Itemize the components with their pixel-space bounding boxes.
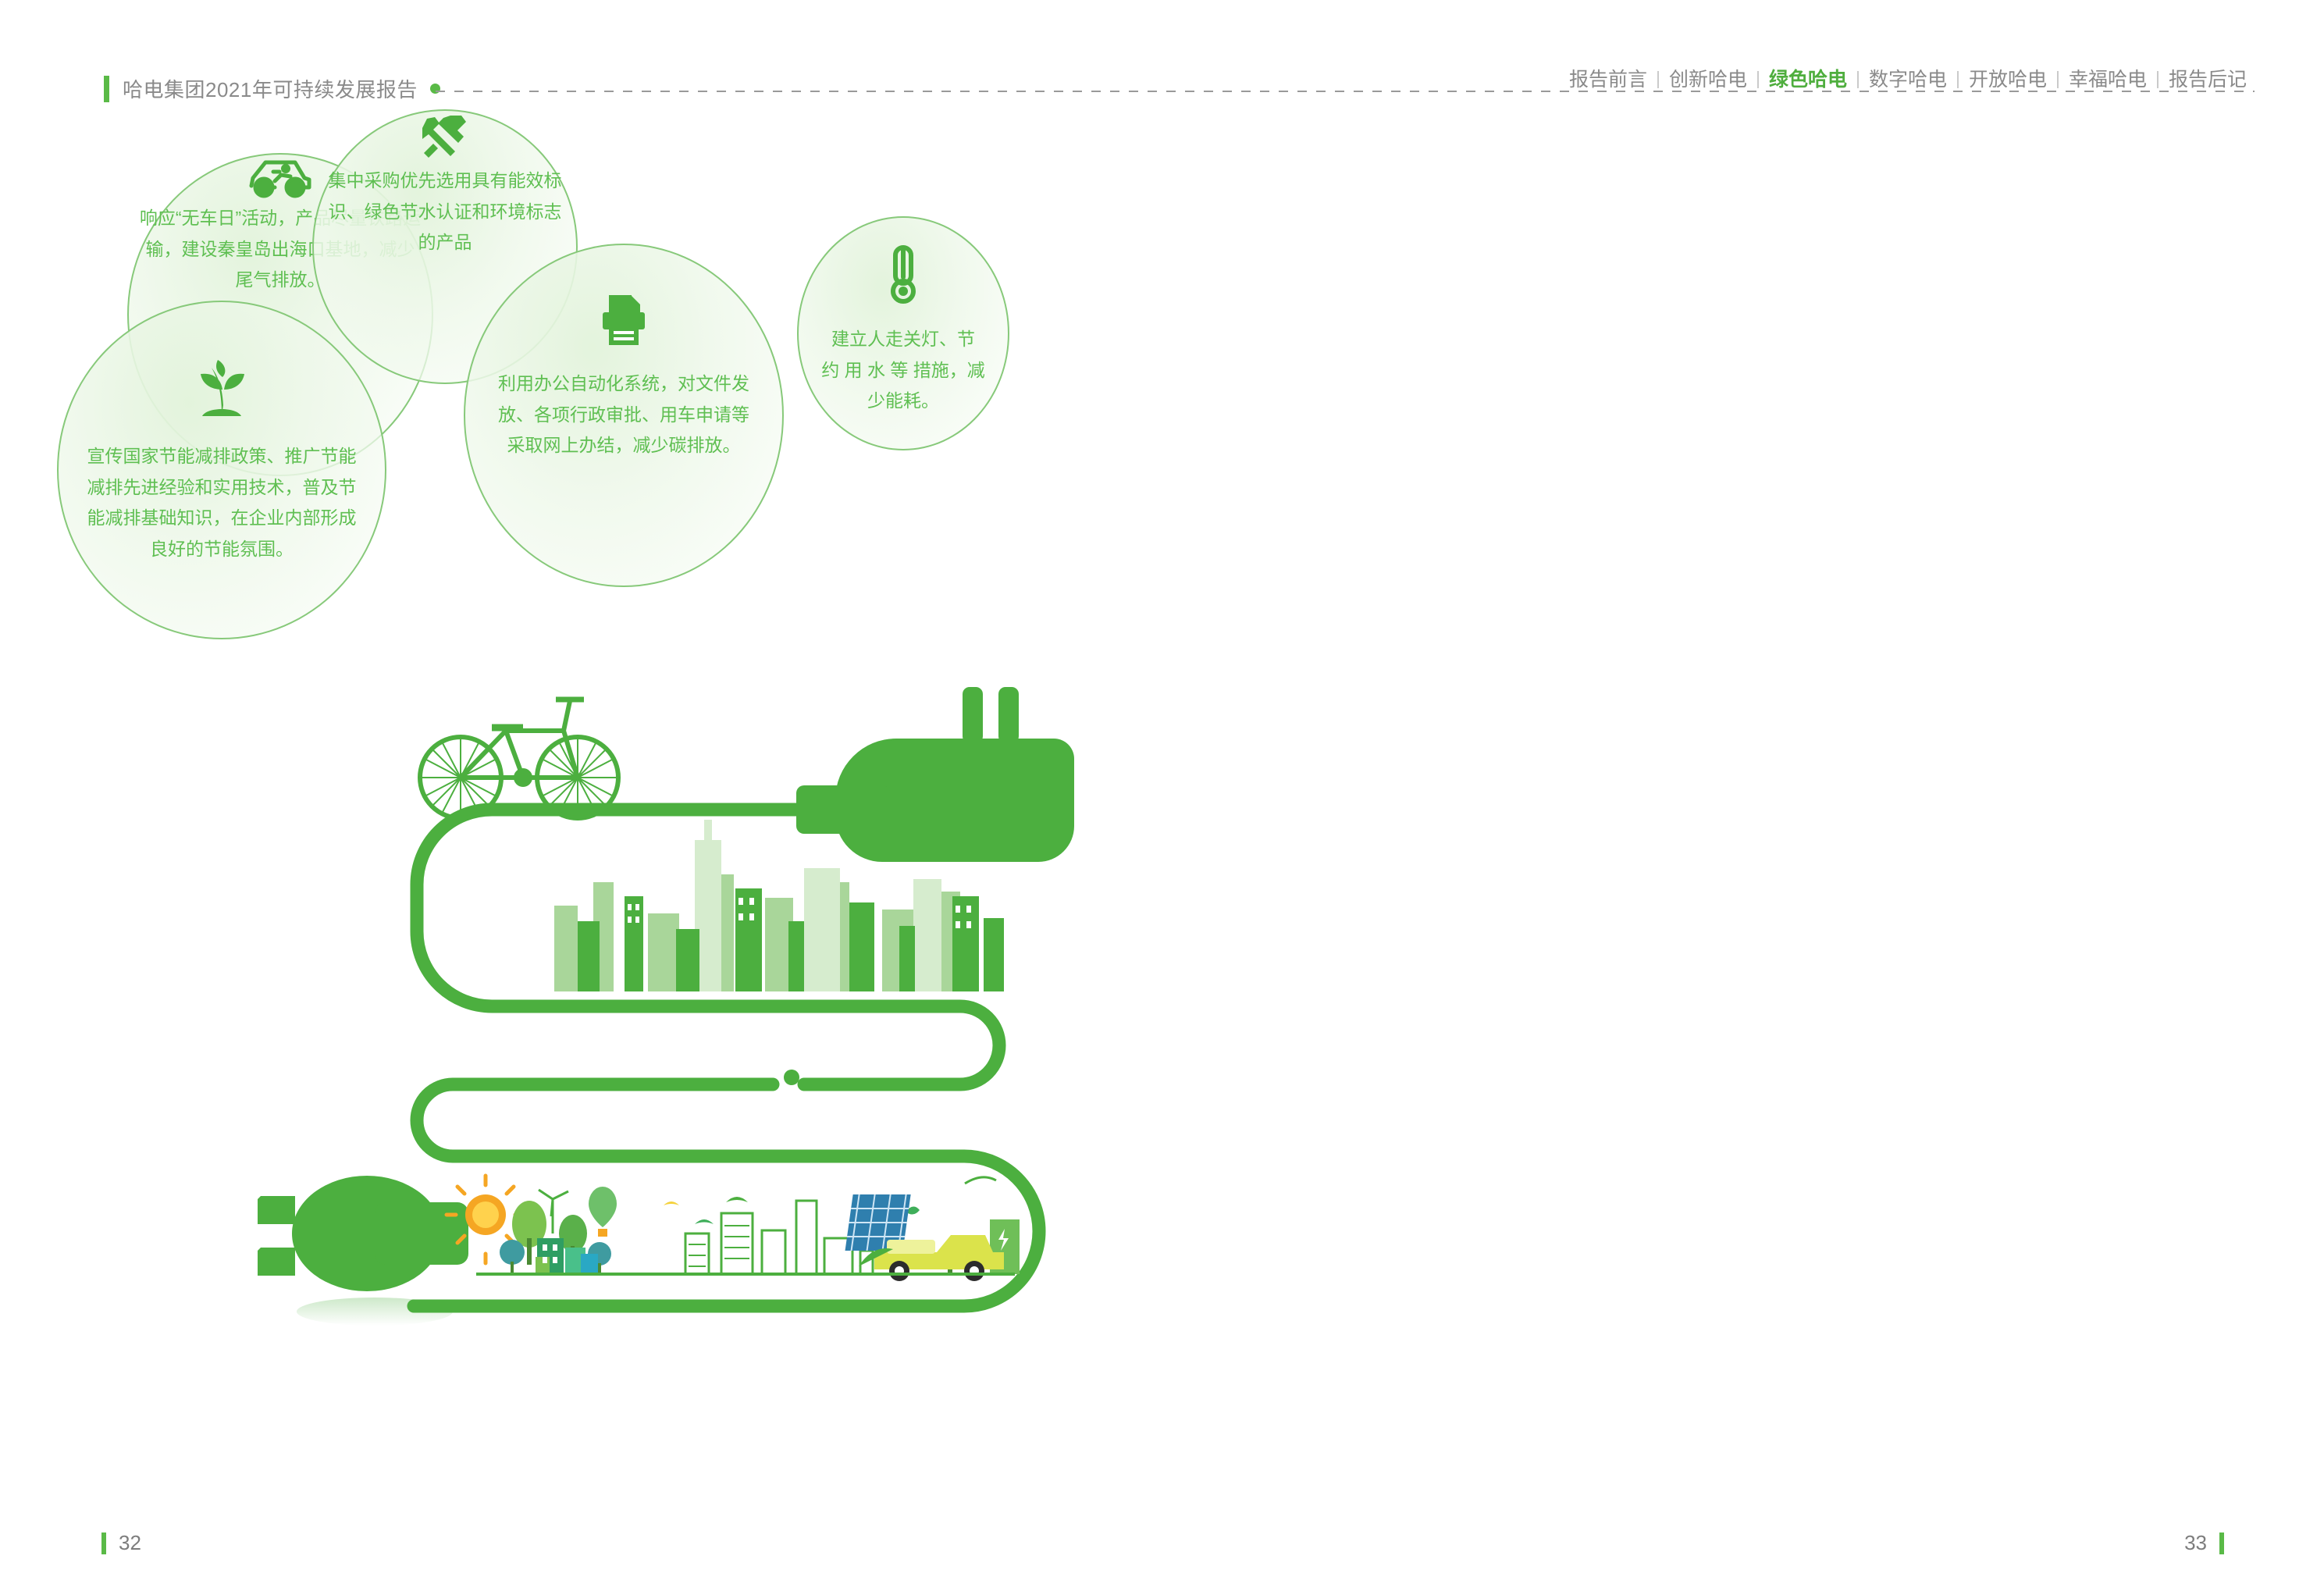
thermometer-icon: [888, 244, 919, 308]
page-number-right: 33: [2184, 1531, 2207, 1555]
left-page: 响应“无车日”活动，产品尽量铁路运输，建设秦皇岛出海口基地，减少尾气排放。 集中…: [0, 0, 1162, 1577]
bubble-energy-saving: 建立人走关灯、节 约 用 水 等 措施，减少能耗。: [797, 216, 1009, 450]
sprout-icon: [193, 358, 251, 424]
bubble-office-automation-text: 利用办公自动化系统，对文件发放、各项行政审批、用车申请等采取网上办结，减少碳排放…: [487, 368, 760, 461]
bubble-procurement-text: 集中采购优先选用具有能效标识、绿色节水认证和环境标志的产品: [314, 166, 576, 258]
page-number-left: 32: [119, 1531, 141, 1555]
bubble-awareness: 宣传国家节能减排政策、推广节能减排先进经验和实用技术，普及节能减排基础知识，在企…: [57, 301, 386, 639]
page-accent-bar-right: [2219, 1533, 2224, 1554]
page-number-left-group: 32: [101, 1531, 141, 1555]
bubble-office-automation: 利用办公自动化系统，对文件发放、各项行政审批、用车申请等采取网上办结，减少碳排放…: [464, 244, 784, 587]
report-spread: 哈电集团2021年可持续发展报告 报告前言 | 创新哈电 | 绿色哈电 | 数字…: [0, 0, 2324, 1577]
bubble-awareness-text: 宣传国家节能减排政策、推广节能减排先进经验和实用技术，普及节能减排基础知识，在企…: [77, 441, 367, 564]
page-number-right-group: 33: [2184, 1531, 2224, 1555]
tools-icon: [419, 111, 471, 166]
right-page: 哈电集团严格落实《职业健康安全环保管理方案》《公司能源计划大纲》《环境管理运行控…: [1162, 0, 2324, 1577]
green-energy-plug-cord-illustration: [258, 687, 1085, 1343]
printer-icon: [600, 294, 648, 350]
page-accent-bar-left: [101, 1533, 106, 1554]
bubble-energy-saving-text: 建立人走关灯、节 约 用 水 等 措施，减少能耗。: [811, 324, 995, 417]
car-icon: [247, 155, 314, 203]
